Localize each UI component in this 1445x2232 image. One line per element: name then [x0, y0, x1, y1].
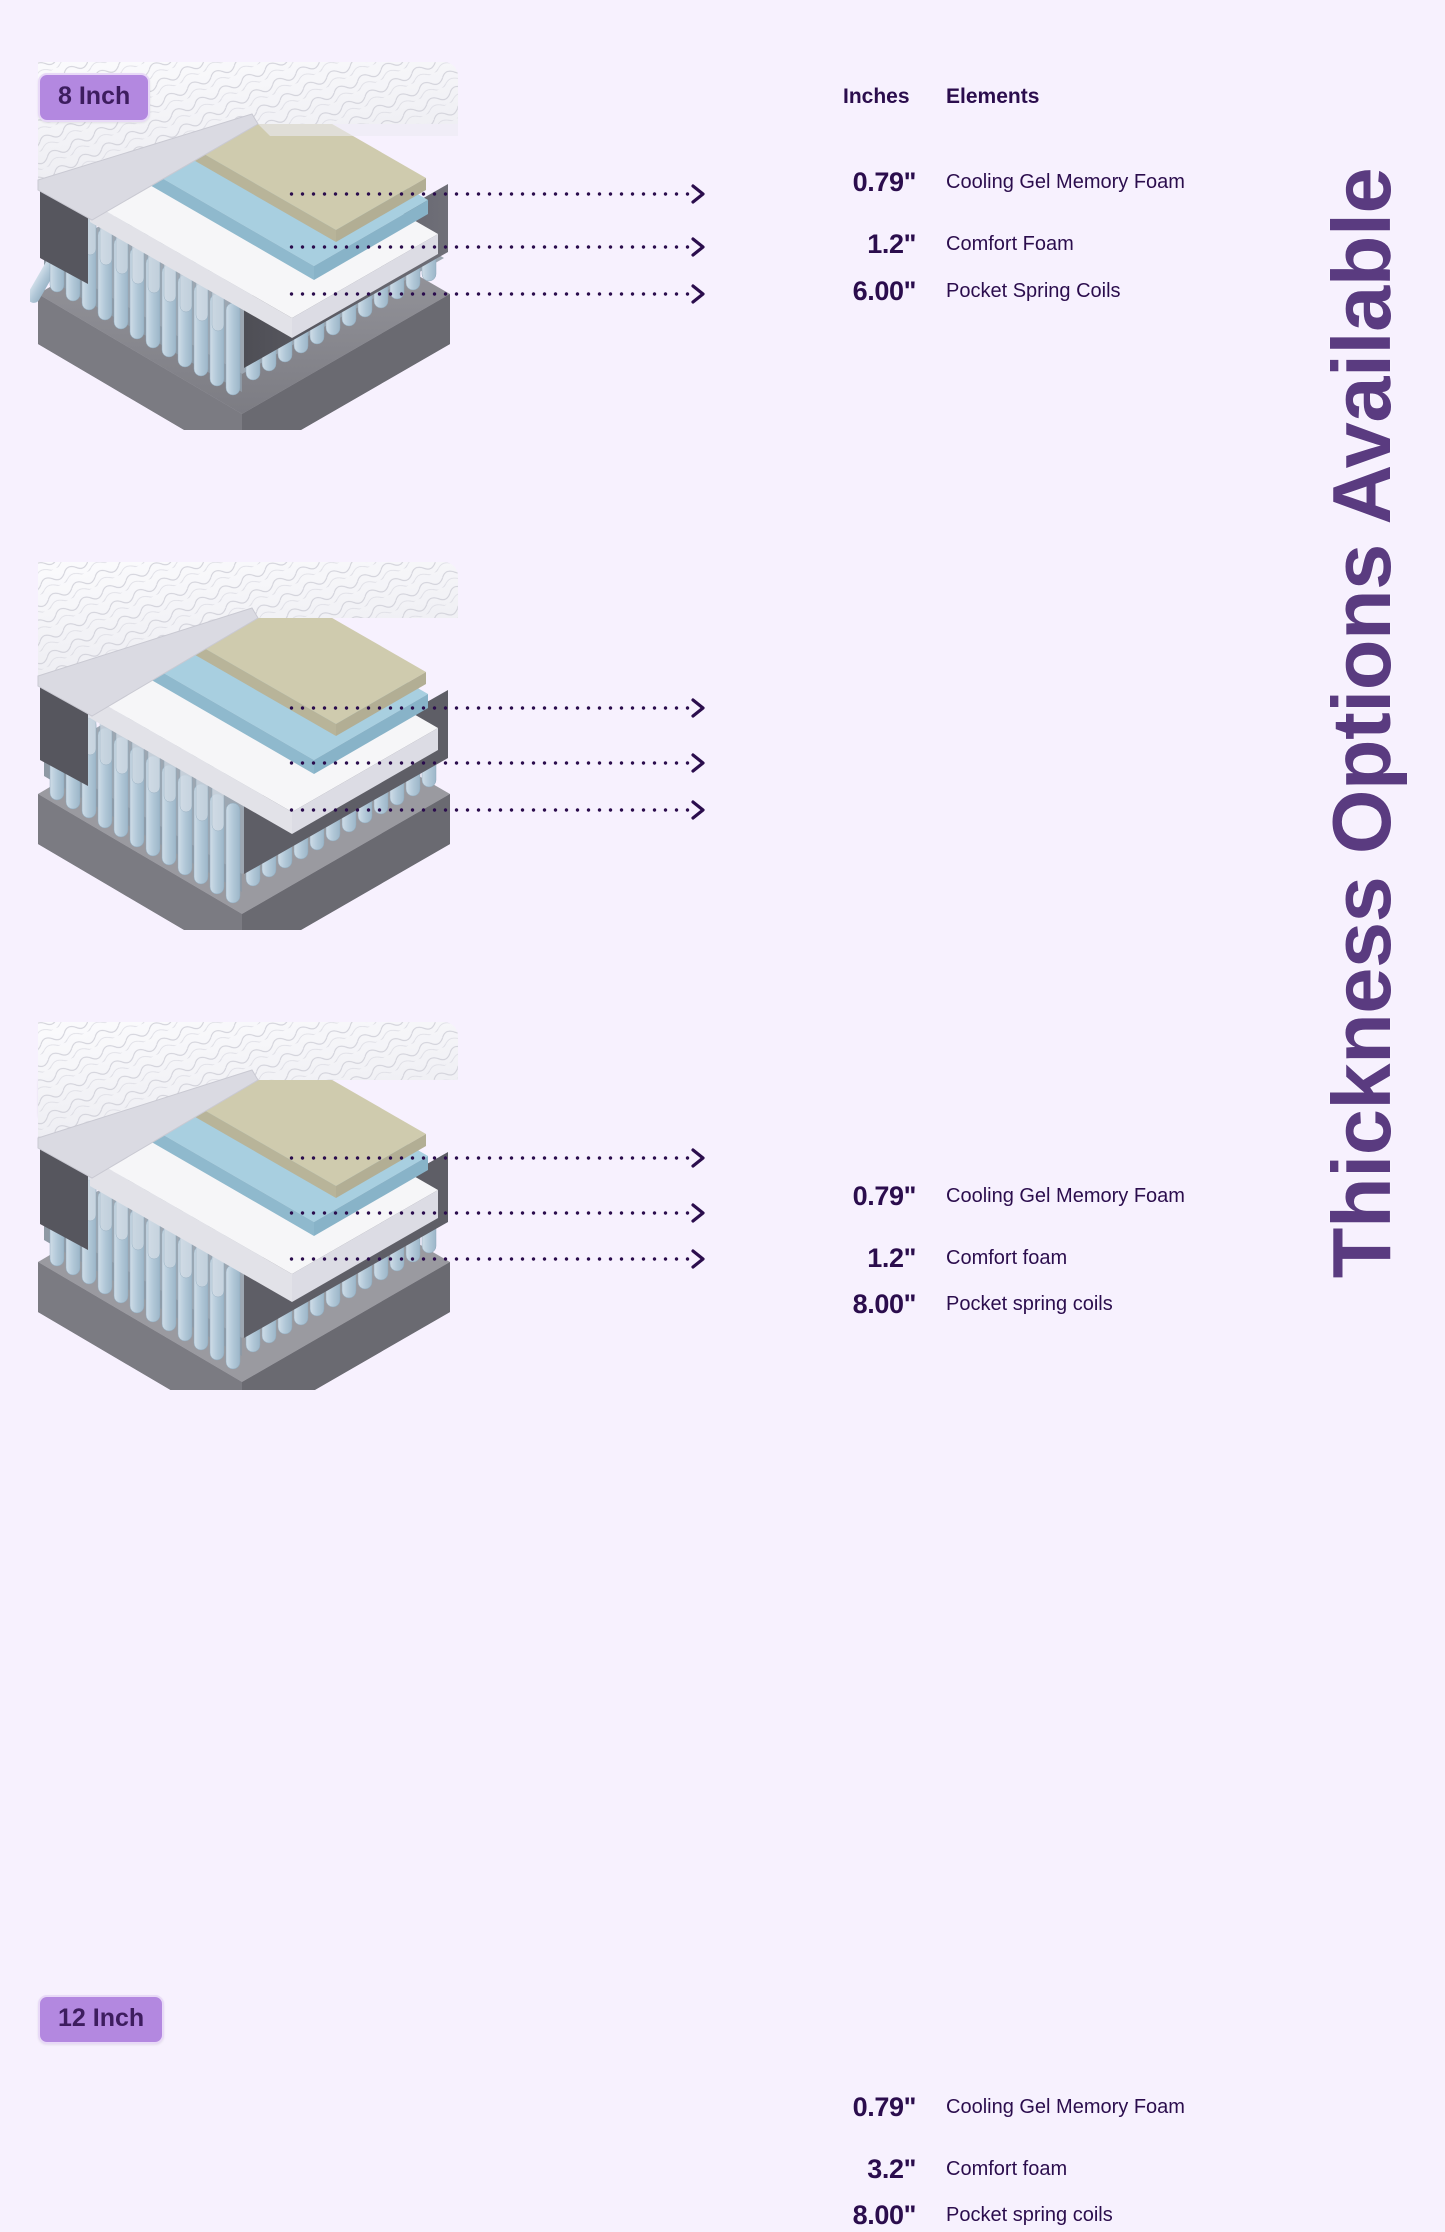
size-badge-12-inch: 12 Inch: [38, 1995, 164, 2044]
vertical-headline: Thickness Options Available: [1287, 0, 1437, 1445]
table-row: 0.79" Cooling Gel Memory Foam: [826, 2090, 1256, 2124]
chevron-arrow-icon-2: [690, 1202, 708, 1224]
chevron-arrow-icon-2: [690, 236, 708, 258]
chevron-arrow-icon-2: [690, 752, 708, 774]
table-row: 1.2" Comfort Foam: [826, 227, 1256, 261]
row-label: Comfort Foam: [946, 227, 1074, 261]
table-row: 6.00" Pocket Spring Coils: [826, 274, 1256, 308]
chevron-arrow-icon-1: [690, 697, 708, 719]
infographic-canvas: 8 Inch Inches Elements 0.79" Cooling Gel…: [0, 0, 1445, 1445]
chevron-arrow-icon-3: [690, 1248, 708, 1270]
thickness-block-12-inch: 12 Inch 0.79" Cooling Gel Memory Foam 3.…: [0, 960, 1260, 1445]
size-badge-8-inch: 8 Inch: [38, 73, 150, 122]
column-header-elements: Elements: [946, 85, 1039, 109]
row-value: 3.2": [826, 2152, 916, 2186]
column-header-inches: Inches: [843, 85, 910, 109]
row-value: 0.79": [826, 2090, 916, 2124]
chevron-arrow-icon-3: [690, 799, 708, 821]
chevron-arrow-icon-1: [690, 183, 708, 205]
table-row: 0.79" Cooling Gel Memory Foam: [826, 165, 1256, 199]
row-label: Comfort foam: [946, 2152, 1067, 2186]
thickness-block-8-inch: 8 Inch Inches Elements 0.79" Cooling Gel…: [0, 0, 1260, 500]
mattress-illustration-10-inch: [30, 562, 458, 930]
row-value: 1.2": [826, 227, 916, 261]
row-label: Cooling Gel Memory Foam: [946, 165, 1185, 199]
row-value: 0.79": [826, 165, 916, 199]
mattress-cutaway-svg: [30, 562, 458, 930]
row-label: Pocket Spring Coils: [946, 274, 1121, 308]
headline-text: Thickness Options Available: [1314, 167, 1410, 1277]
chevron-arrow-icon-3: [690, 283, 708, 305]
table-row: 8.00" Pocket spring coils: [826, 2198, 1256, 2232]
row-label: Pocket spring coils: [946, 2198, 1113, 2232]
chevron-arrow-icon-1: [690, 1147, 708, 1169]
row-value: 8.00": [826, 2198, 916, 2232]
mattress-cutaway-svg: [30, 1022, 458, 1390]
row-label: Cooling Gel Memory Foam: [946, 2090, 1185, 2124]
table-row: 3.2" Comfort foam: [826, 2152, 1256, 2186]
row-value: 6.00": [826, 274, 916, 308]
thickness-block-10-inch: 10 Inch 0.79" Cooling Gel Memory Foam 1.…: [0, 500, 1260, 960]
mattress-illustration-12-inch: [30, 1022, 458, 1390]
